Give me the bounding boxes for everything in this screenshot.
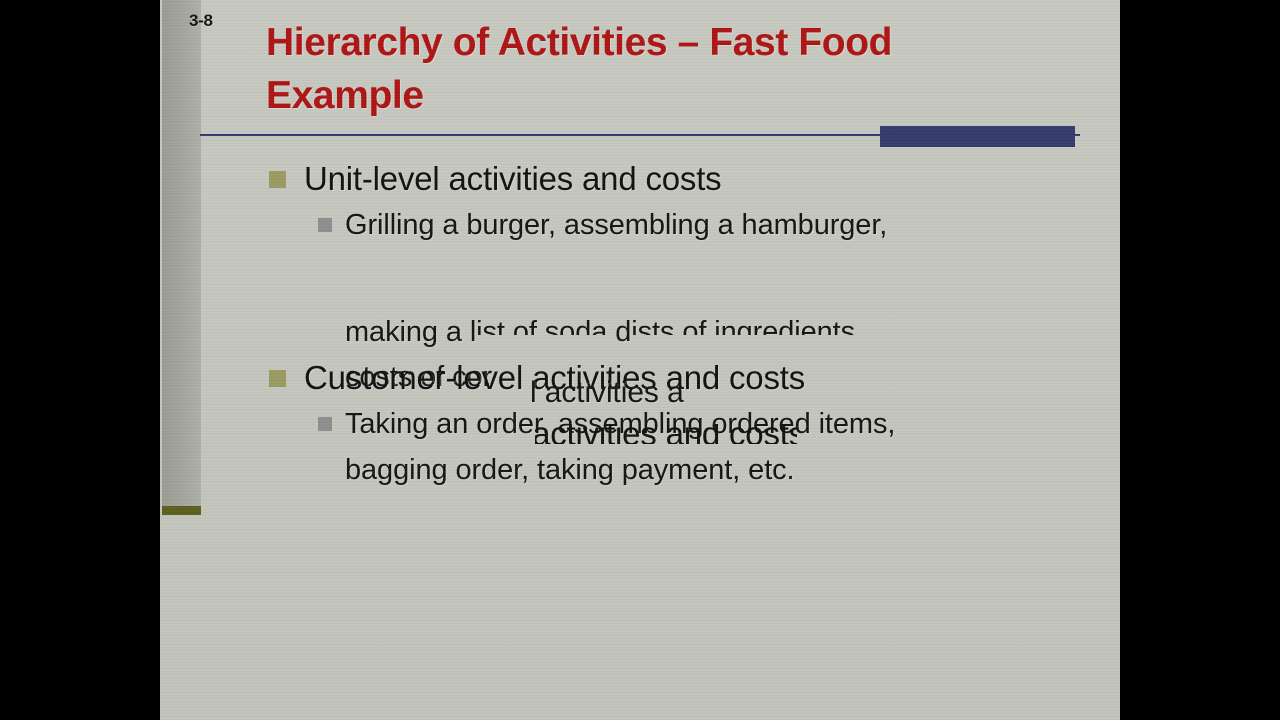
artifact-text-c: d bbox=[607, 317, 631, 348]
subbullet-unit-level: Grilling a burger, assembling a hamburge… bbox=[160, 202, 1120, 248]
artifact-text-a: making a l bbox=[345, 317, 476, 348]
bullet-unit-level-label: Unit-level activities and costs bbox=[304, 160, 721, 197]
title-accent-block bbox=[880, 126, 1075, 147]
gray-square-bullet-icon bbox=[318, 417, 332, 431]
bullet-unit-level: Unit-level activities and costs bbox=[160, 155, 1120, 202]
video-frame: 3-8 Hierarchy of Activities – Fast Food … bbox=[0, 0, 1280, 720]
presentation-slide: 3-8 Hierarchy of Activities – Fast Food … bbox=[160, 0, 1120, 720]
subbullet-customer-level-label: Taking an order, assembling ordered item… bbox=[345, 401, 925, 493]
slide-number: 3-8 bbox=[189, 11, 213, 31]
olive-square-bullet-icon bbox=[269, 171, 286, 188]
gray-square-bullet-icon bbox=[318, 218, 332, 232]
render-artifact-overlay-text: Customer-level activities and costs bbox=[535, 424, 797, 444]
render-artifact-overlay-strip: Customer-level activities and costs bbox=[535, 424, 797, 444]
subbullet-customer-level: Taking an order, assembling ordered item… bbox=[160, 401, 1120, 493]
slide-title: Hierarchy of Activities – Fast Food Exam… bbox=[266, 16, 1026, 122]
subbullet-unit-level-label: Grilling a burger, assembling a hamburge… bbox=[345, 202, 925, 248]
olive-square-bullet-icon bbox=[269, 370, 286, 387]
slide-left-accent-bar bbox=[162, 506, 201, 515]
artifact-text-b: ist of soda bbox=[476, 317, 607, 335]
artifact-text-d: ists of ingredients, bbox=[631, 317, 863, 335]
render-artifact-stray-fragment: l activities a bbox=[530, 373, 684, 413]
render-artifact-clipped-line: making a list of soda dists of ingredien… bbox=[345, 317, 1045, 348]
